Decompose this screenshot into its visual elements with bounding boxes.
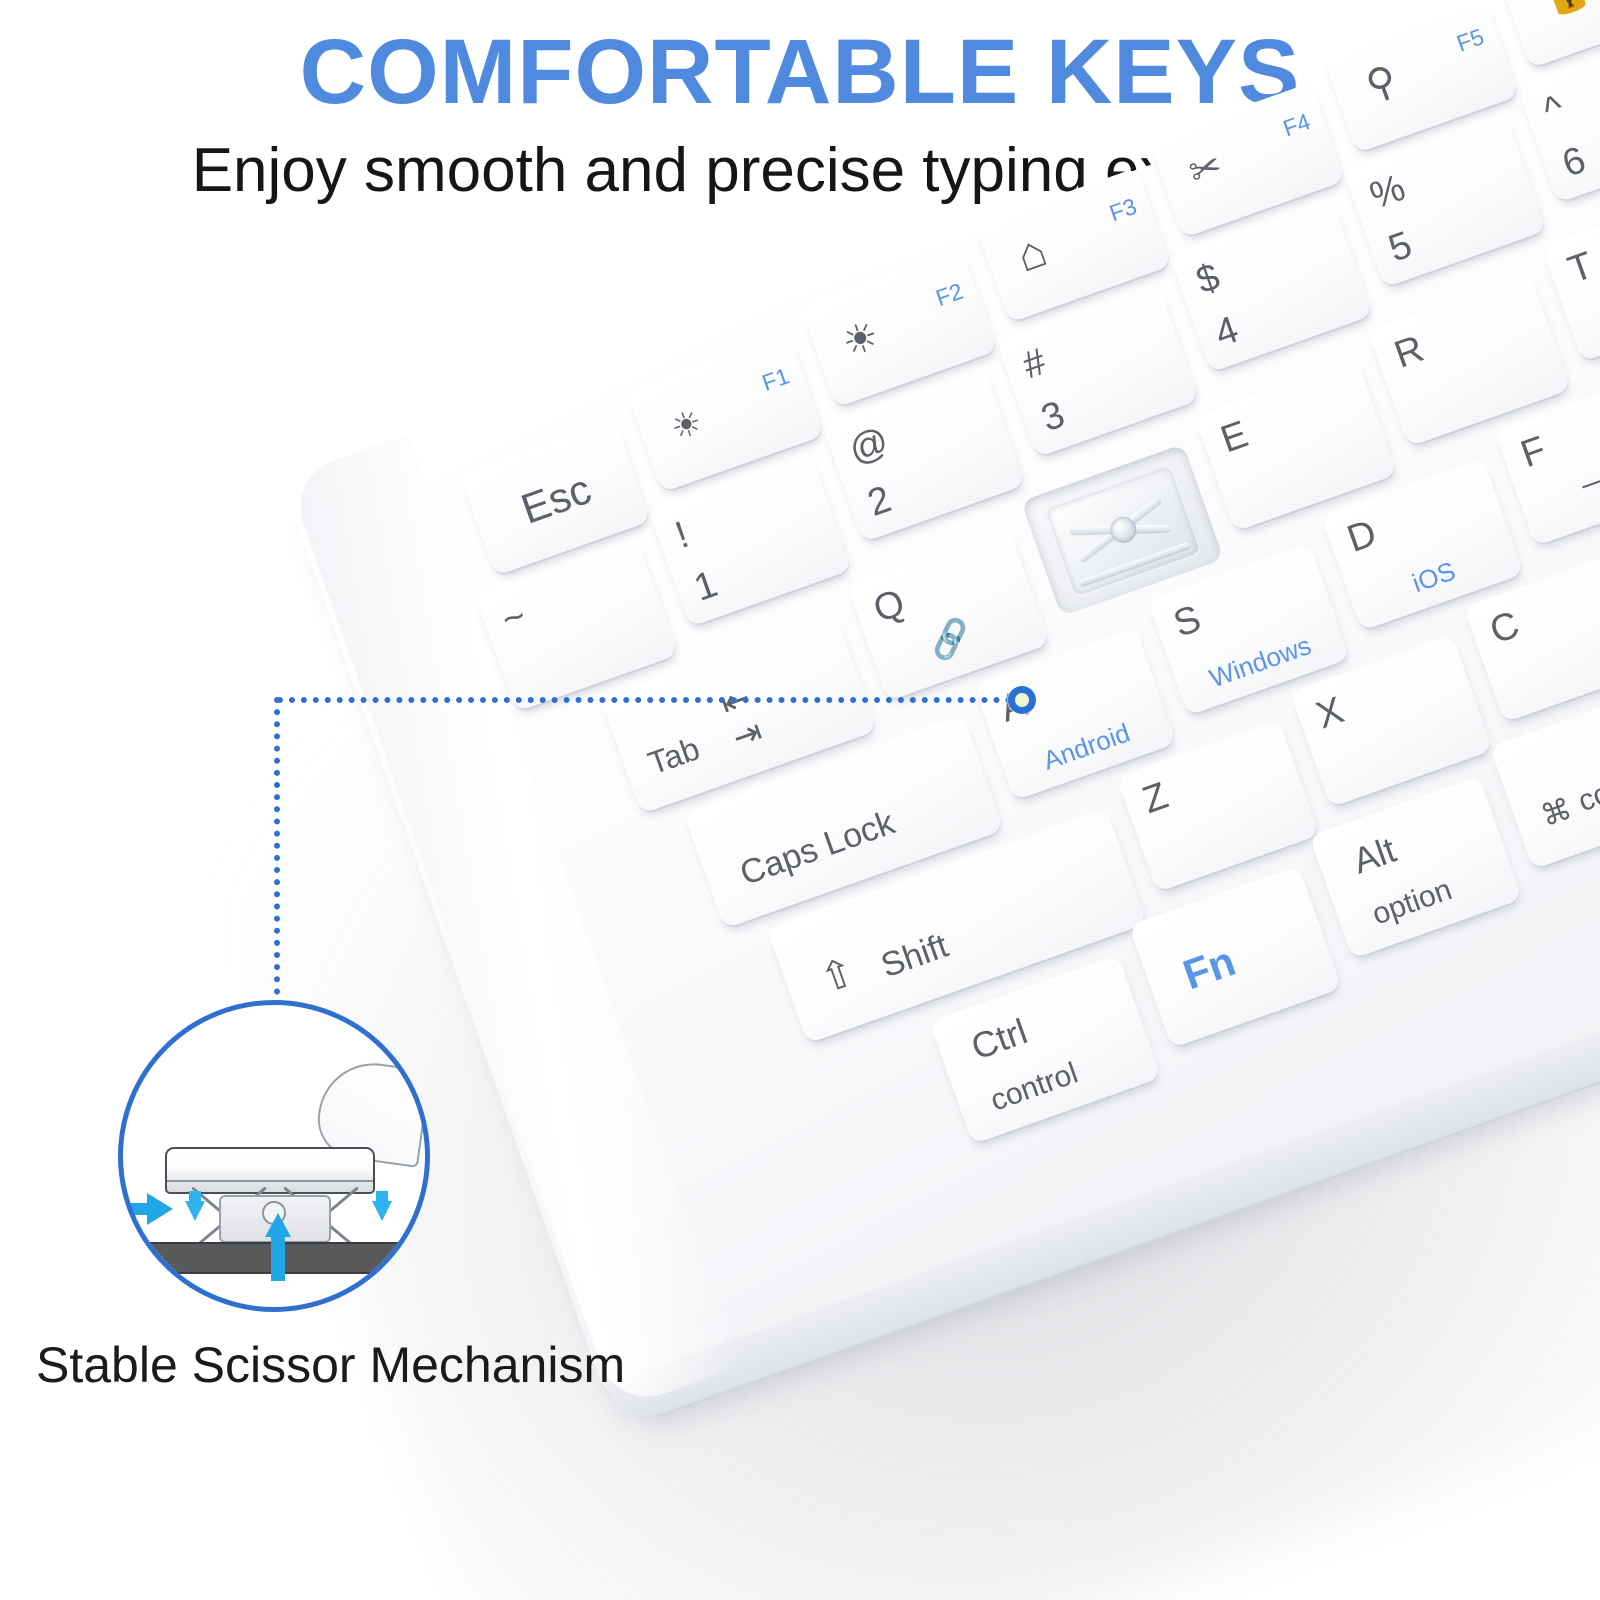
base-plate (141, 1242, 399, 1274)
arrow-right-icon (147, 1193, 173, 1225)
key-c-label: C (1485, 606, 1524, 651)
key-6-shifted: ^ (1539, 89, 1569, 131)
command-icon: ⌘ (1538, 794, 1576, 832)
key-3-shifted: # (1018, 343, 1051, 386)
key-2-shifted: @ (844, 422, 893, 471)
key-f3-fnlabel: F3 (1107, 195, 1140, 226)
key-z-label: Z (1138, 777, 1173, 821)
key-f-label: F (1516, 431, 1551, 475)
key-d-os-label: iOS (1409, 557, 1459, 596)
homing-bar-icon: — (1577, 462, 1600, 500)
lock-icon: 🔒 (1536, 0, 1596, 19)
key-s-label: S (1169, 600, 1206, 644)
key-alt-option-label: option (1369, 875, 1456, 931)
key-r-label: R (1390, 330, 1429, 375)
key-f5-fnlabel: F5 (1454, 25, 1487, 56)
key-ctrl-alt-label: control (987, 1058, 1082, 1116)
key-x-label: X (1312, 691, 1349, 735)
key-4-base: 4 (1210, 310, 1243, 353)
key-alt-label: Alt (1349, 832, 1401, 880)
arrow-down-right-icon (372, 1201, 392, 1221)
key-esc-label: Esc (516, 468, 596, 531)
scissor-cross-section-diagram (123, 1005, 425, 1307)
screenshot-icon: ✂ (1184, 146, 1227, 192)
key-t-label: T (1563, 246, 1598, 290)
key-fn-label: Fn (1178, 940, 1240, 997)
key-f1-fnlabel: F1 (759, 364, 792, 395)
callout-leader-vertical (274, 697, 280, 1019)
search-icon: ⚲ (1361, 59, 1402, 106)
key-f4-fnlabel: F4 (1280, 110, 1313, 141)
key-ctrl-label: Ctrl (967, 1013, 1032, 1066)
key-1-base: 1 (690, 565, 723, 608)
callout-leader-horizontal (277, 697, 1012, 703)
key-q-label: Q (869, 584, 910, 630)
key-5-base: 5 (1384, 226, 1417, 269)
scissor-mechanism-callout-circle (118, 1000, 430, 1312)
key-command-label: command (1575, 745, 1600, 817)
pair-link-icon: 🔗 (925, 617, 976, 663)
key-5-shifted: % (1365, 169, 1410, 216)
key-3-base: 3 (1037, 395, 1070, 438)
key-f2-fnlabel: F2 (933, 280, 966, 311)
key-e-label: E (1216, 415, 1253, 459)
key-6-base: 6 (1558, 141, 1591, 184)
tab-arrows-icon-2: ⇥ (728, 714, 766, 756)
keycap-cross-section (165, 1147, 375, 1194)
key-d-label: D (1343, 514, 1382, 559)
key-grave-shifted: ~ (497, 597, 531, 640)
arrow-down-left-icon (185, 1201, 205, 1221)
arrow-up-tail (271, 1235, 285, 1281)
key-shift-label: Shift (877, 929, 952, 984)
callout-caption: Stable Scissor Mechanism (36, 1336, 625, 1394)
keycap-edge-line (167, 1180, 373, 1182)
brightness-down-icon: ☀ (667, 404, 707, 446)
key-2-base: 2 (863, 480, 896, 523)
key-4-shifted: $ (1192, 258, 1225, 301)
key-1-shifted: ! (671, 516, 694, 555)
key-tab-label: Tab (644, 732, 703, 779)
home-icon: ⌂ (1011, 226, 1053, 279)
arrow-up-icon (265, 1213, 291, 1237)
brightness-up-icon: ☀ (837, 315, 884, 365)
shift-arrow-icon: ⇧ (815, 951, 860, 1000)
callout-target-dot (1008, 686, 1036, 714)
